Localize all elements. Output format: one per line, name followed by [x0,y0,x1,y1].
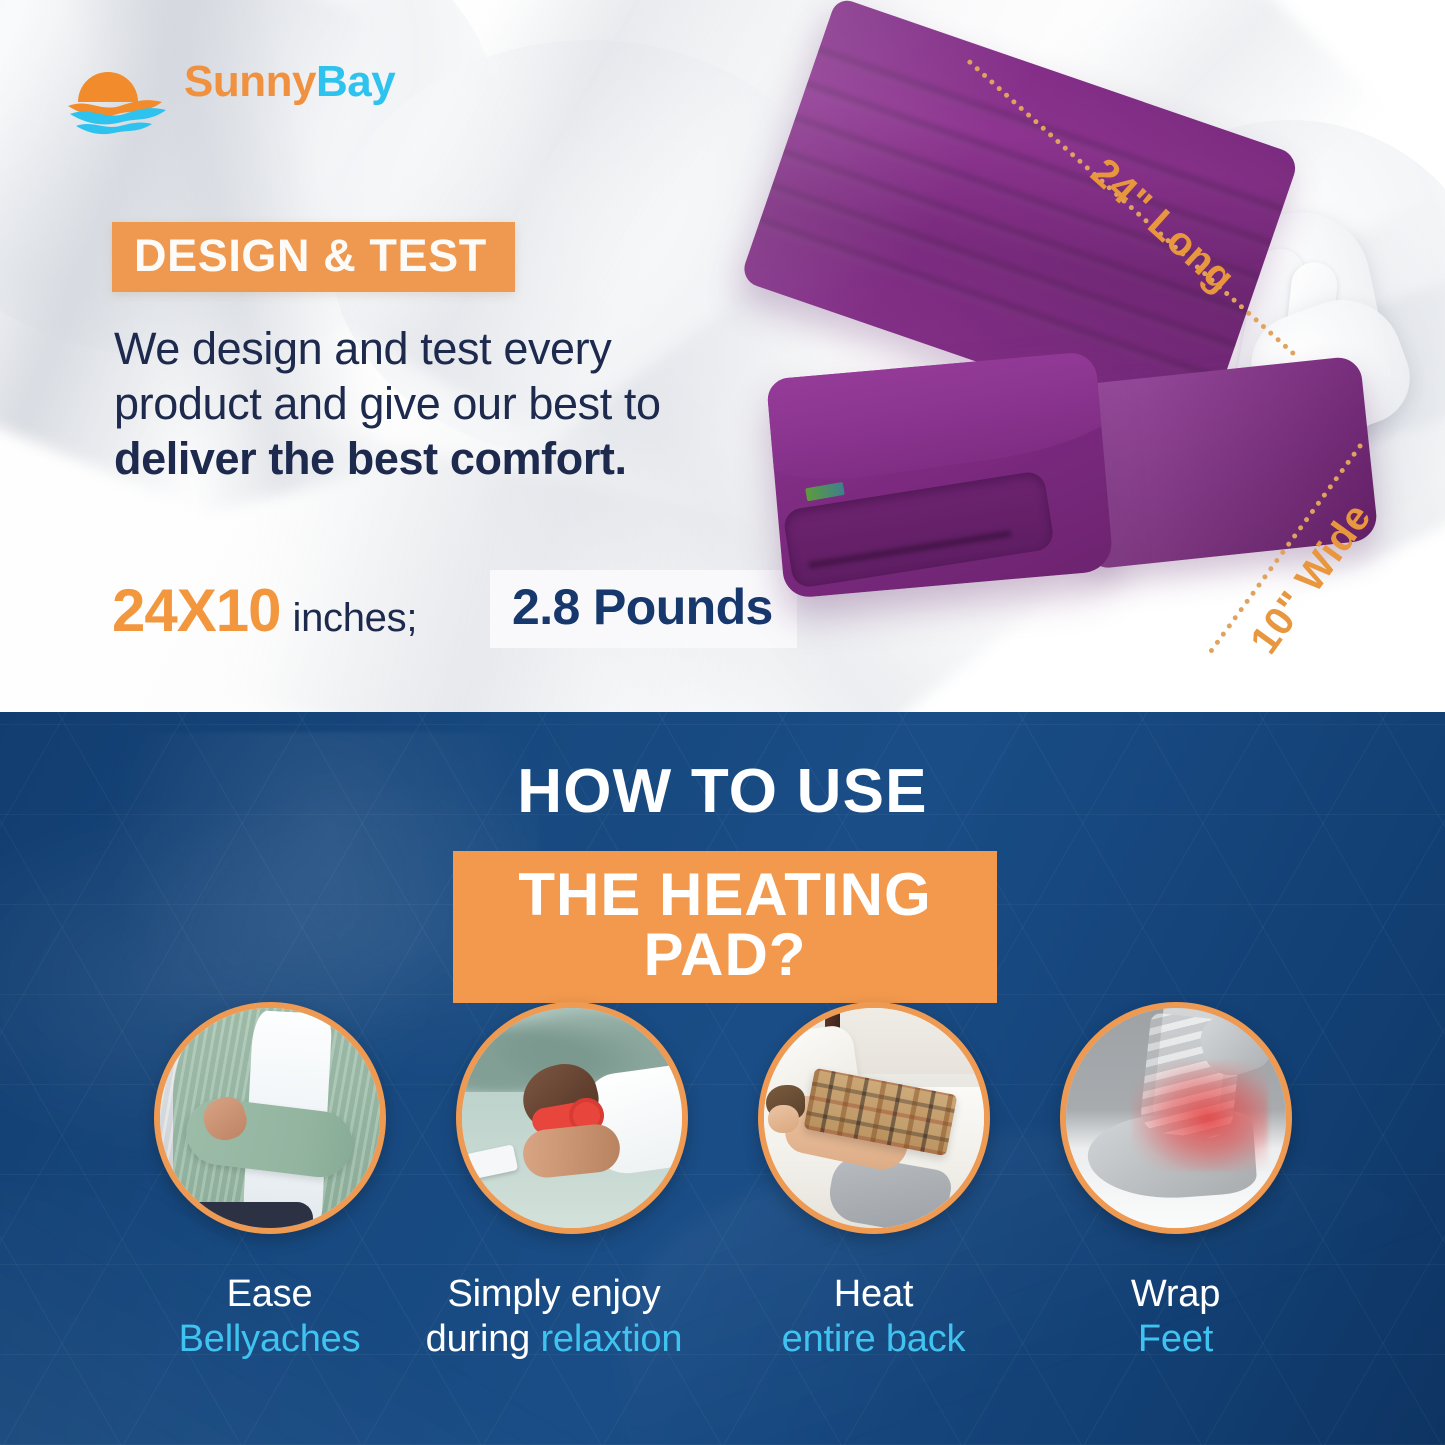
caption-top: Simply enjoy [399,1272,709,1317]
caption-bottom: Bellyaches [179,1317,361,1362]
use-case-card[interactable]: Heat entire back [754,1002,994,1362]
photo-relaxing-outdoors [456,1002,688,1234]
photo-foot-wrap [1060,1002,1292,1234]
caption-bottom: entire back [782,1317,966,1362]
brand-name: SunnyBay [184,60,395,104]
sun-wave-logo-icon [66,54,178,136]
dimensions-line: 24X10inches; [112,576,417,642]
design-test-label: DESIGN & TEST [134,230,487,281]
caption-top: Ease [179,1272,361,1317]
design-test-banner: DESIGN & TEST [112,222,515,292]
caption-bottom-accent: Bellyaches [179,1318,361,1360]
how-to-use-heading-line1: HOW TO USE [0,761,1445,823]
description-plain: We design and test every product and giv… [114,323,661,429]
product-photo [735,40,1435,690]
brand-logo[interactable]: SunnyBay [66,52,386,144]
heating-pad-folded [766,351,1114,599]
caption-bottom-accent: relaxtion [540,1318,682,1360]
use-case-card[interactable]: Ease Bellyaches [150,1002,390,1362]
brand-name-second: Bay [316,57,395,106]
description-paragraph: We design and test every product and giv… [114,322,724,487]
description-bold: deliver the best comfort. [114,433,627,484]
caption-bottom: during relaxtion [399,1317,709,1362]
product-detail-section: SunnyBay DESIGN & TEST We design and tes… [0,0,1445,712]
use-case-caption: Wrap Feet [1131,1272,1220,1362]
how-to-use-section: HOW TO USE THE HEATING PAD? Ease Bellyac… [0,712,1445,1445]
caption-bottom-prefix: during [426,1318,541,1360]
weight-value: 2.8 Pounds [512,579,773,635]
how-to-use-heading-banner: THE HEATING PAD? [453,851,997,1003]
dimensions-unit: inches; [281,596,418,640]
use-case-card-list: Ease Bellyaches Simply enjoy during rela… [0,1002,1445,1362]
caption-top: Heat [782,1272,966,1317]
use-case-card[interactable]: Wrap Feet [1056,1002,1296,1362]
use-case-caption: Heat entire back [782,1272,966,1362]
use-case-caption: Simply enjoy during relaxtion [399,1272,709,1362]
photo-back-heating [758,1002,990,1234]
caption-bottom-accent: entire back [782,1318,966,1360]
brand-name-first: Sunny [184,57,316,106]
use-case-caption: Ease Bellyaches [179,1272,361,1362]
caption-bottom-accent: Feet [1138,1318,1213,1360]
use-case-card[interactable]: Simply enjoy during relaxtion [452,1002,692,1362]
caption-top: Wrap [1131,1272,1220,1317]
brand-tag-icon [805,482,845,501]
dimensions-value: 24X10 [112,577,281,644]
how-to-use-heading-line2: THE HEATING PAD? [518,861,931,988]
caption-bottom: Feet [1131,1317,1220,1362]
photo-bellyache [154,1002,386,1234]
